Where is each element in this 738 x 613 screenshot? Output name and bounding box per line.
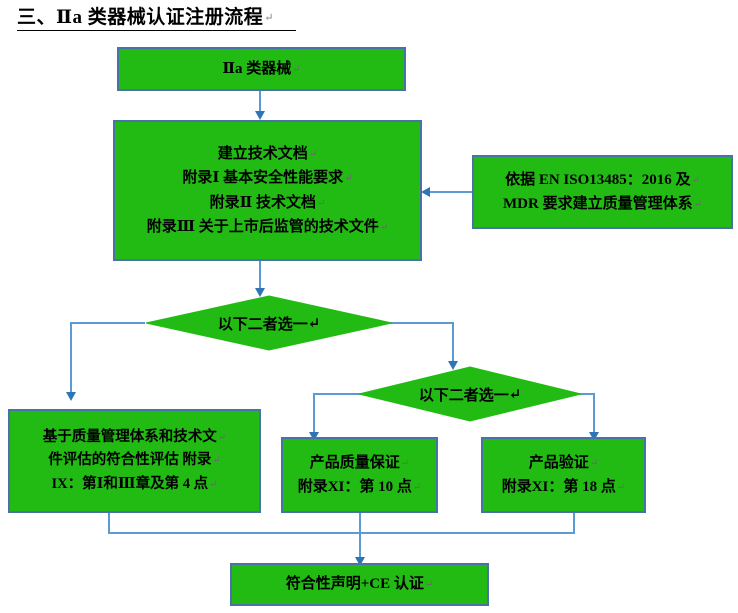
edge-decision-one-left-h xyxy=(70,322,145,324)
pilcrow-mark: ↵ xyxy=(209,479,217,490)
node-conformity-assessment-line-0: 基于质量管理体系和技术文↵ xyxy=(43,426,226,449)
node-conformity-assessment[interactable]: 基于质量管理体系和技术文↵ 件评估的符合性评估 附录↵ IX：第Ⅰ和Ⅲ章及第 4… xyxy=(8,409,261,513)
pilcrow-mark: ↵ xyxy=(292,64,300,75)
pilcrow-mark: ↵ xyxy=(317,198,325,209)
pilcrow-mark: ↵ xyxy=(413,482,421,493)
pilcrow-mark: ↵ xyxy=(344,173,352,184)
node-declaration-ce-line-0: 符合性声明+CE 认证↵ xyxy=(286,572,434,596)
node-device-class-line-0: Ⅱa 类器械↵ xyxy=(222,57,300,81)
node-conformity-assessment-line-2: IX：第Ⅰ和Ⅲ章及第 4 点↵ xyxy=(52,473,218,496)
edge-verification-merge-v xyxy=(573,512,575,534)
pilcrow-mark: ↵ xyxy=(308,314,321,333)
arrowhead-decision-one-to-conformity xyxy=(66,392,76,401)
node-conformity-assessment-line-1: 件评估的符合性评估 附录↵ xyxy=(48,449,221,472)
page-title-underline xyxy=(17,30,296,31)
pilcrow-mark: ↵ xyxy=(425,579,433,590)
edge-technical-to-decision-one xyxy=(259,261,261,291)
pilcrow-mark: ↵ xyxy=(380,222,388,233)
node-technical-file-line-3: 附录Ⅲ 关于上市后监管的技术文件↵ xyxy=(147,215,388,239)
page-title: 三、Ⅱa 类器械认证注册流程↵ xyxy=(17,5,274,31)
node-decision-two-label: 以下二者选一↵ xyxy=(358,366,582,422)
pilcrow-mark: ↵ xyxy=(212,455,220,466)
node-quality-system[interactable]: 依据 EN ISO13485：2016 及↵ MDR 要求建立质量管理体系↵ xyxy=(472,155,733,229)
edge-decision-one-right-v xyxy=(452,322,454,364)
node-product-verification-line-1: 附录XI：第 18 点↵ xyxy=(502,475,626,499)
arrowhead-device-to-technical xyxy=(255,111,265,120)
node-product-quality-assurance-line-1: 附录XI：第 10 点↵ xyxy=(298,475,422,499)
node-product-verification-line-0: 产品验证↵ xyxy=(529,451,598,475)
node-decision-one[interactable]: 以下二者选一↵ xyxy=(145,295,393,351)
edge-merge-bus xyxy=(108,532,575,534)
pilcrow-mark: ↵ xyxy=(401,458,409,469)
node-quality-system-line-1: MDR 要求建立质量管理体系↵ xyxy=(503,192,702,216)
arrowhead-quality-to-technical xyxy=(421,187,430,197)
pilcrow-mark: ↵ xyxy=(309,149,317,160)
edge-decision-two-left-h xyxy=(313,393,363,395)
pilcrow-mark: ↵ xyxy=(509,385,522,404)
node-device-class[interactable]: Ⅱa 类器械↵ xyxy=(117,47,406,91)
flowchart-canvas: 三、Ⅱa 类器械认证注册流程↵ Ⅱa 类器械↵ 建立技术文档↵ 附录Ⅰ 基本安全… xyxy=(0,0,738,613)
edge-quality-to-technical xyxy=(428,191,472,193)
edge-quality-assurance-merge-v xyxy=(359,512,361,560)
edge-decision-one-left-v xyxy=(70,322,72,394)
node-technical-file[interactable]: 建立技术文档↵ 附录Ⅰ 基本安全性能要求↵ 附录Ⅱ 技术文档↵ 附录Ⅲ 关于上市… xyxy=(113,120,422,261)
pilcrow-mark: ↵ xyxy=(218,432,226,443)
page-title-text: 三、Ⅱa 类器械认证注册流程 xyxy=(17,7,263,28)
pilcrow-mark: ↵ xyxy=(264,12,274,24)
edge-decision-one-right-h xyxy=(390,322,454,324)
node-product-quality-assurance-line-0: 产品质量保证↵ xyxy=(310,451,409,475)
edge-decision-two-right-v xyxy=(593,393,595,435)
node-decision-two[interactable]: 以下二者选一↵ xyxy=(358,366,582,422)
node-declaration-ce[interactable]: 符合性声明+CE 认证↵ xyxy=(230,563,489,606)
node-technical-file-line-0: 建立技术文档↵ xyxy=(218,142,317,166)
edge-conformity-merge-v xyxy=(108,512,110,534)
pilcrow-mark: ↵ xyxy=(694,199,702,210)
node-quality-system-line-0: 依据 EN ISO13485：2016 及↵ xyxy=(505,168,700,192)
node-decision-one-label: 以下二者选一↵ xyxy=(145,295,393,351)
node-product-quality-assurance[interactable]: 产品质量保证↵ 附录XI：第 10 点↵ xyxy=(281,437,438,513)
pilcrow-mark: ↵ xyxy=(617,482,625,493)
edge-decision-two-left-v xyxy=(313,393,315,435)
node-technical-file-line-2: 附录Ⅱ 技术文档↵ xyxy=(210,191,326,215)
node-product-verification[interactable]: 产品验证↵ 附录XI：第 18 点↵ xyxy=(481,437,646,513)
pilcrow-mark: ↵ xyxy=(692,175,700,186)
node-technical-file-line-1: 附录Ⅰ 基本安全性能要求↵ xyxy=(182,166,352,190)
pilcrow-mark: ↵ xyxy=(590,458,598,469)
